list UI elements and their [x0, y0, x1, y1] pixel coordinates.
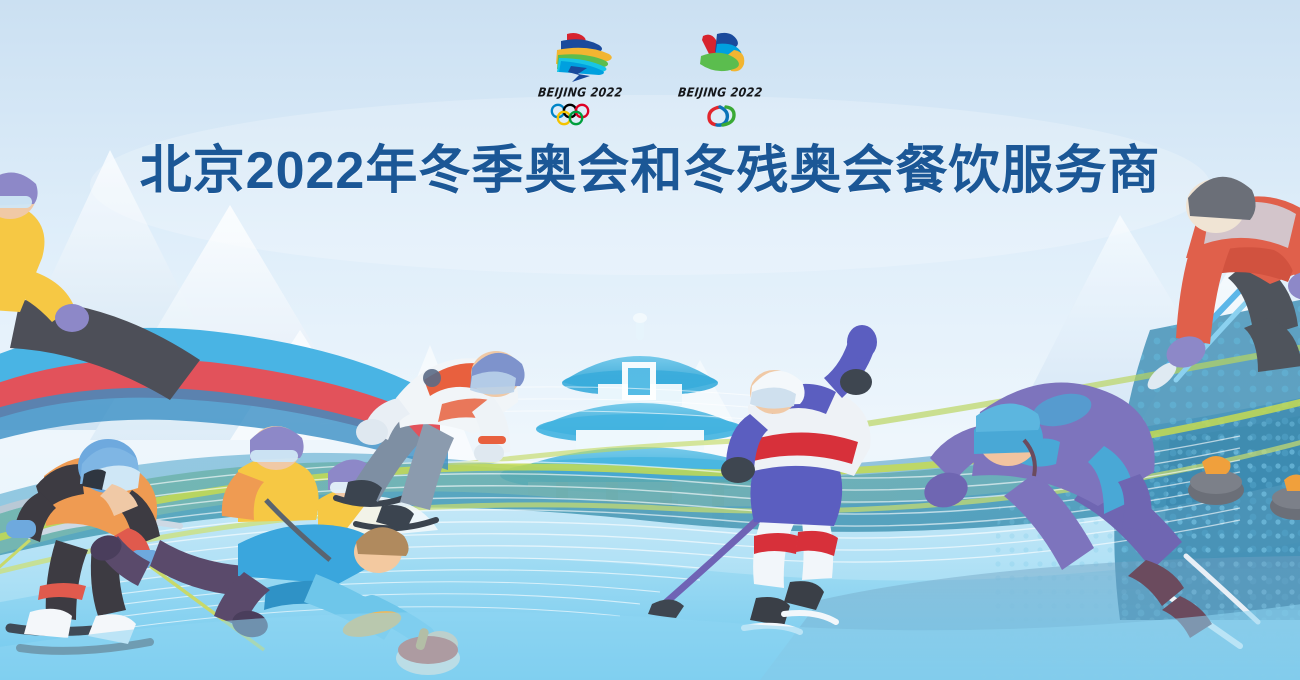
curling-stones — [1188, 456, 1300, 520]
paralympic-agitos — [685, 103, 755, 127]
paralympic-logo-unit: BEIJING 2022 — [670, 30, 770, 127]
olympic-rings — [545, 103, 615, 127]
athlete-speed-skater-right — [920, 382, 1258, 646]
beijing-2022-olympic-emblem — [537, 30, 623, 82]
olympic-wordmark: BEIJING 2022 — [537, 85, 623, 100]
page-title: 北京2022年冬季奥会和冬残奥会餐饮服务商 — [0, 143, 1300, 200]
paralympic-wordmark: BEIJING 2022 — [677, 85, 763, 100]
olympic-logo-unit: BEIJING 2022 — [530, 30, 630, 127]
beijing-2022-paralympic-emblem — [677, 30, 763, 82]
athlete-curler-sweeping — [1143, 177, 1300, 520]
emblem-group: BEIJING 2022 BEIJING 2022 — [0, 30, 1300, 127]
beijing-2022-banner: BEIJING 2022 BEIJING 2022 — [0, 0, 1300, 680]
athlete-ice-hockey-player — [648, 325, 877, 632]
